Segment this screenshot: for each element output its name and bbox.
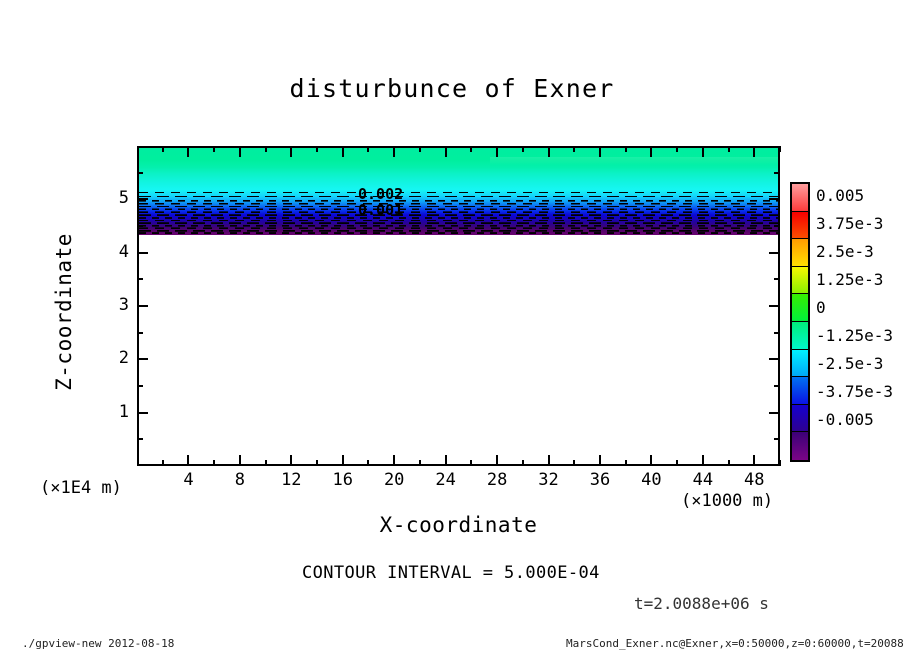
colorbar: [790, 182, 810, 462]
x-tick-label: 8: [220, 470, 260, 490]
x-axis-title: X-coordinate: [137, 513, 780, 537]
y-axis-tick: [774, 172, 780, 174]
contour-line: [139, 211, 778, 213]
colorbar-band: [792, 377, 808, 405]
y-axis-tick: [774, 385, 780, 387]
colorbar-tick-label: 1.25e-3: [816, 270, 883, 289]
y-axis-tick-labels: 12345: [103, 146, 129, 466]
contour-line: [139, 222, 778, 224]
x-axis-tick: [316, 146, 318, 152]
x-tick-label: 24: [426, 470, 466, 490]
x-axis-tick: [419, 460, 421, 466]
y-axis-tick: [137, 332, 143, 334]
contour-line: [139, 196, 778, 197]
y-axis-unit: (×1E4 m): [40, 478, 122, 498]
footer-right: MarsCond_Exner.nc@Exner,x=0:50000,z=0:60…: [566, 637, 904, 650]
colorbar-band: [792, 432, 808, 460]
y-axis-tick: [769, 305, 780, 307]
colorbar-tick-label: -1.25e-3: [816, 326, 893, 345]
x-tick-label: 48: [734, 470, 774, 490]
contour-line: [139, 230, 778, 232]
x-axis-tick: [162, 460, 164, 466]
y-axis-tick: [774, 278, 780, 280]
contour-line: [139, 217, 778, 219]
y-axis-tick: [769, 252, 780, 254]
x-axis-tick: [728, 460, 730, 466]
contour-line: [139, 227, 778, 229]
x-axis-tick: [728, 146, 730, 152]
colorbar-tick-label: -0.005: [816, 410, 874, 429]
x-axis-tick: [625, 460, 627, 466]
x-axis-tick: [625, 146, 627, 152]
x-axis-tick: [599, 146, 601, 157]
x-axis-tick: [290, 146, 292, 157]
contour-line: [139, 200, 778, 202]
x-axis-tick: [779, 146, 781, 152]
x-axis-tick: [187, 455, 189, 466]
x-axis-tick: [213, 460, 215, 466]
contour-line: [139, 206, 778, 208]
chart-title: disturbunce of Exner: [0, 74, 904, 103]
x-tick-label: 36: [580, 470, 620, 490]
x-axis-unit: (×1000 m): [681, 491, 773, 511]
x-axis-tick: [393, 146, 395, 157]
x-axis-tick: [342, 146, 344, 157]
x-axis-tick: [265, 146, 267, 152]
x-tick-label: 4: [168, 470, 208, 490]
colorbar-band: [792, 294, 808, 322]
y-axis-tick: [137, 252, 148, 254]
colorbar-tick-label: 2.5e-3: [816, 242, 874, 261]
y-axis-tick: [769, 358, 780, 360]
y-tick-label: 2: [107, 348, 129, 368]
contour-field: [139, 148, 778, 464]
x-axis-tick: [239, 146, 241, 157]
x-axis-tick: [753, 455, 755, 466]
x-axis-tick: [599, 455, 601, 466]
contour-interval-note: CONTOUR INTERVAL = 5.000E-04: [302, 563, 600, 583]
x-axis-tick: [522, 146, 524, 152]
plot-area: [137, 146, 780, 466]
contour-line: [139, 232, 778, 234]
colorbar-band: [792, 239, 808, 267]
contour-line: [139, 208, 778, 210]
y-axis-title: Z-coordinate: [52, 212, 76, 412]
y-tick-label: 4: [107, 242, 129, 262]
x-axis-tick: [162, 146, 164, 152]
x-axis-tick: [470, 146, 472, 152]
y-axis-tick: [137, 198, 148, 200]
x-axis-tick: [419, 146, 421, 152]
y-axis-tick: [137, 358, 148, 360]
y-tick-label: 3: [107, 295, 129, 315]
x-axis-tick: [187, 146, 189, 157]
x-axis-tick: [650, 146, 652, 157]
x-axis-tick: [239, 455, 241, 466]
colorbar-band: [792, 350, 808, 378]
x-axis-tick: [676, 460, 678, 466]
y-axis-tick: [137, 438, 143, 440]
x-tick-label: 20: [374, 470, 414, 490]
colorbar-tick-label: -2.5e-3: [816, 354, 883, 373]
y-axis-tick: [137, 278, 143, 280]
y-axis-tick: [137, 225, 143, 227]
x-tick-label: 44: [683, 470, 723, 490]
x-axis-tick: [573, 460, 575, 466]
x-axis-tick: [342, 455, 344, 466]
y-axis-tick: [137, 305, 148, 307]
x-axis-tick: [650, 455, 652, 466]
colorbar-band: [792, 322, 808, 350]
x-tick-label: 16: [323, 470, 363, 490]
colorbar-band: [792, 212, 808, 240]
contour-line: [139, 192, 778, 193]
x-axis-tick: [676, 146, 678, 152]
x-axis-tick: [496, 146, 498, 157]
x-axis-tick: [702, 146, 704, 157]
footer-left: ./gpview-new 2012-08-18: [22, 637, 174, 650]
y-axis-tick: [137, 385, 143, 387]
colorbar-tick-label: -3.75e-3: [816, 382, 893, 401]
contour-line: [139, 220, 778, 222]
colorbar-tick-label: 0: [816, 298, 826, 317]
x-tick-label: 40: [631, 470, 671, 490]
y-tick-label: 1: [107, 402, 129, 422]
y-axis-tick: [769, 198, 780, 200]
timestamp-note: t=2.0088e+06 s: [634, 594, 769, 613]
x-axis-tick: [702, 455, 704, 466]
x-tick-label: 12: [271, 470, 311, 490]
x-axis-tick: [753, 146, 755, 157]
y-tick-label: 5: [107, 188, 129, 208]
x-axis-tick: [367, 460, 369, 466]
x-axis-tick: [290, 455, 292, 466]
colorbar-tick-label: 0.005: [816, 186, 864, 205]
x-axis-tick: [445, 146, 447, 157]
contour-lines: [139, 148, 778, 464]
x-axis-tick: [316, 460, 318, 466]
y-axis-tick: [137, 172, 143, 174]
y-axis-tick: [137, 412, 148, 414]
x-axis-tick: [522, 460, 524, 466]
colorbar-band: [792, 405, 808, 433]
x-axis-tick: [573, 146, 575, 152]
x-tick-label: 32: [529, 470, 569, 490]
contour-line: [139, 225, 778, 227]
contour-line: [139, 203, 778, 205]
contour-label-lower: 0.001: [358, 201, 403, 219]
y-axis-tick: [769, 412, 780, 414]
x-axis-tick: [445, 455, 447, 466]
x-axis-tick: [470, 460, 472, 466]
y-axis-tick: [774, 225, 780, 227]
x-axis-tick: [265, 460, 267, 466]
x-tick-label: 28: [477, 470, 517, 490]
x-axis-tick: [779, 460, 781, 466]
x-axis-tick: [213, 146, 215, 152]
y-axis-tick: [774, 438, 780, 440]
x-axis-tick: [548, 455, 550, 466]
x-axis-tick: [393, 455, 395, 466]
colorbar-band: [792, 184, 808, 212]
x-axis-tick: [367, 146, 369, 152]
colorbar-tick-label: 3.75e-3: [816, 214, 883, 233]
x-axis-tick: [548, 146, 550, 157]
contour-line: [139, 214, 778, 216]
x-axis-tick: [496, 455, 498, 466]
colorbar-band: [792, 267, 808, 295]
y-axis-tick: [774, 332, 780, 334]
